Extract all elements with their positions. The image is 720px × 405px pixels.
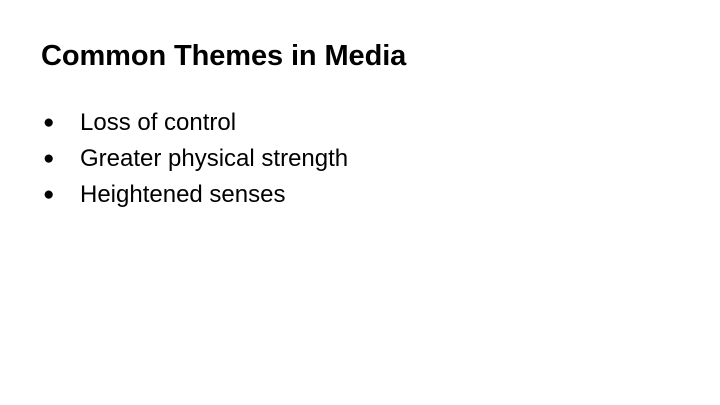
list-item: ● Loss of control [41, 105, 681, 141]
list-item: ● Greater physical strength [41, 141, 681, 177]
bullet-list: ● Loss of control ● Greater physical str… [41, 105, 681, 213]
slide-title: Common Themes in Media [41, 38, 681, 74]
bullet-dot-icon: ● [43, 105, 63, 141]
bullet-item-label: Heightened senses [80, 177, 285, 213]
slide-canvas: Common Themes in Media ● Loss of control… [0, 0, 720, 405]
bullet-item-label: Greater physical strength [80, 141, 348, 177]
bullet-dot-icon: ● [43, 177, 63, 213]
bullet-dot-icon: ● [43, 141, 63, 177]
list-item: ● Heightened senses [41, 177, 681, 213]
bullet-item-label: Loss of control [80, 105, 236, 141]
slide-body: ● Loss of control ● Greater physical str… [41, 105, 681, 213]
